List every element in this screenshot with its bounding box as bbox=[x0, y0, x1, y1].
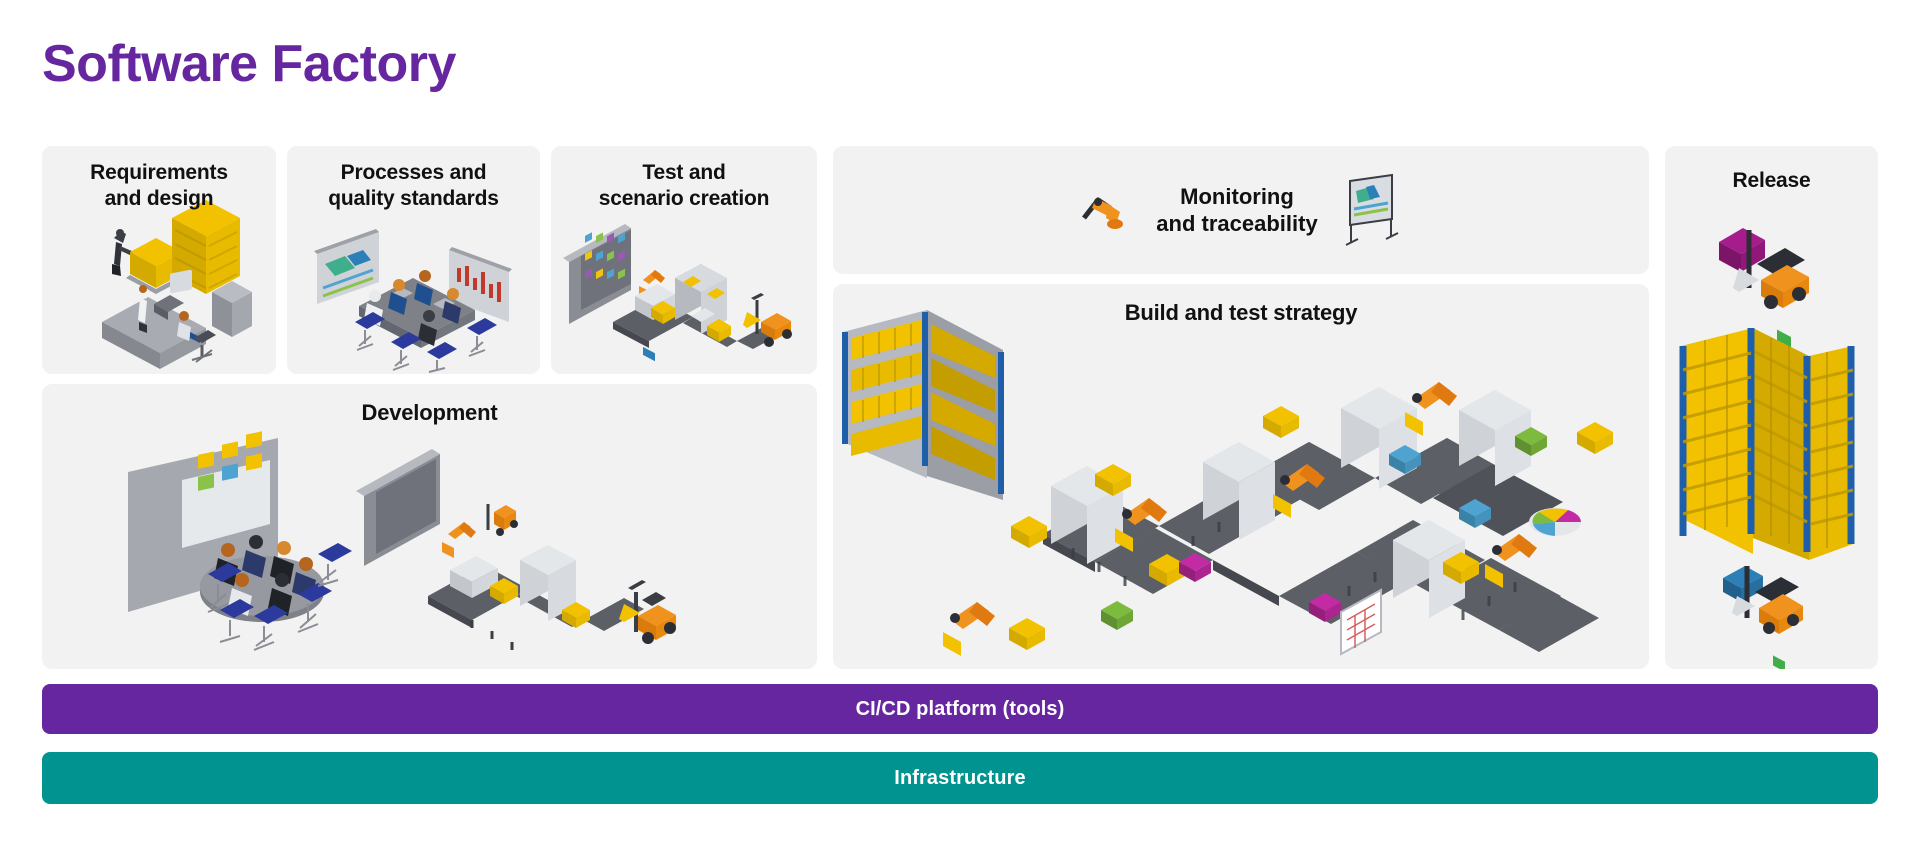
box-icon bbox=[1459, 499, 1491, 528]
robot-arm-icon bbox=[1115, 498, 1167, 552]
illustration-build-and-test-strategy bbox=[833, 284, 1649, 669]
inspection-station-icon bbox=[1459, 390, 1531, 486]
box-icon bbox=[651, 301, 675, 324]
card-release[interactable]: Release bbox=[1665, 146, 1878, 669]
illustration-release bbox=[1665, 146, 1878, 669]
card-title-processes: Processes and quality standards bbox=[287, 160, 540, 211]
robot-arm-icon bbox=[1080, 186, 1134, 234]
pallet-icon bbox=[126, 238, 188, 294]
chart-board-icon bbox=[1340, 173, 1402, 247]
worker-icon bbox=[112, 229, 134, 276]
robot-arm-icon bbox=[943, 602, 995, 656]
warehouse-rack-icon bbox=[843, 310, 1003, 500]
forklift-icon bbox=[1723, 566, 1803, 669]
card-processes-and-quality-standards[interactable]: Processes and quality standards bbox=[287, 146, 540, 374]
robot-arm-icon bbox=[1405, 382, 1457, 436]
box-icon bbox=[1263, 406, 1299, 438]
meeting-table-icon bbox=[200, 535, 352, 650]
inspection-station-icon bbox=[1393, 520, 1465, 669]
inspection-station-icon bbox=[520, 545, 576, 621]
card-title-test-scenario: Test and scenario creation bbox=[551, 160, 817, 211]
conveyor-belt-icon bbox=[428, 565, 644, 650]
monitoring-row: Monitoring and traceability bbox=[833, 146, 1649, 274]
box-icon bbox=[1577, 422, 1613, 454]
box-icon bbox=[1095, 464, 1131, 496]
card-title-requirements: Requirements and design bbox=[42, 160, 276, 211]
box-icon bbox=[1389, 445, 1421, 474]
meeting-table-icon bbox=[355, 270, 497, 372]
box-icon bbox=[1179, 553, 1211, 582]
box-icon bbox=[1011, 516, 1047, 548]
page-title: Software Factory bbox=[42, 38, 456, 90]
box-icon bbox=[562, 602, 590, 628]
conveyor-belt-icon bbox=[1043, 438, 1599, 652]
software-factory-diagram: Software Factory Requirements and design bbox=[0, 0, 1920, 848]
box-icon bbox=[707, 319, 731, 342]
card-test-and-scenario-creation[interactable]: Test and scenario creation bbox=[551, 146, 817, 374]
box-icon bbox=[1101, 601, 1133, 630]
inspection-station-icon bbox=[675, 264, 727, 374]
whiteboard-icon bbox=[128, 431, 278, 612]
pie-chart-icon bbox=[1529, 508, 1581, 536]
desk-cluster-icon bbox=[102, 270, 252, 374]
card-title-monitoring: Monitoring and traceability bbox=[1156, 183, 1317, 238]
conveyor-belt-icon bbox=[613, 298, 783, 349]
box-icon bbox=[1515, 427, 1547, 456]
robot-arm-icon bbox=[1273, 464, 1325, 518]
bar-cicd-platform[interactable]: CI/CD platform (tools) bbox=[42, 684, 1878, 734]
forklift-icon bbox=[619, 580, 676, 644]
card-build-and-test-strategy[interactable]: Build and test strategy bbox=[833, 284, 1649, 669]
card-requirements-and-design[interactable]: Requirements and design bbox=[42, 146, 276, 374]
card-title-release: Release bbox=[1665, 168, 1878, 194]
inspection-station-icon bbox=[1341, 387, 1417, 669]
whiteboard-icon bbox=[314, 229, 379, 304]
bar-infrastructure[interactable]: Infrastructure bbox=[42, 752, 1878, 804]
box-icon bbox=[1149, 554, 1185, 586]
forklift-icon bbox=[488, 504, 518, 536]
robot-arm-icon bbox=[442, 522, 476, 558]
grid-panel-icon bbox=[1341, 590, 1381, 654]
forklift-icon bbox=[1719, 228, 1809, 349]
card-monitoring-and-traceability[interactable]: Monitoring and traceability bbox=[833, 146, 1649, 274]
robot-arm-icon bbox=[639, 270, 665, 299]
chart-board-icon bbox=[449, 247, 512, 322]
box-icon bbox=[1309, 593, 1341, 622]
test-machine-icon bbox=[635, 284, 675, 361]
inspection-station-icon bbox=[1051, 466, 1123, 564]
server-rack-icon bbox=[563, 224, 631, 324]
bar-cicd-label: CI/CD platform (tools) bbox=[856, 698, 1065, 721]
card-title-development: Development bbox=[42, 400, 817, 427]
box-icon bbox=[1009, 618, 1045, 650]
box-icon bbox=[1443, 552, 1479, 584]
card-title-build-and-test: Build and test strategy bbox=[833, 300, 1649, 327]
warehouse-rack-icon bbox=[172, 200, 240, 294]
card-development[interactable]: Development bbox=[42, 384, 817, 669]
test-machine-icon bbox=[450, 556, 498, 669]
robot-arm-icon bbox=[1485, 534, 1537, 588]
forklift-icon bbox=[743, 293, 792, 347]
box-icon bbox=[490, 578, 518, 604]
inspection-station-icon bbox=[1203, 442, 1275, 669]
bar-infrastructure-label: Infrastructure bbox=[894, 767, 1025, 790]
warehouse-rack-icon bbox=[1681, 328, 1853, 560]
